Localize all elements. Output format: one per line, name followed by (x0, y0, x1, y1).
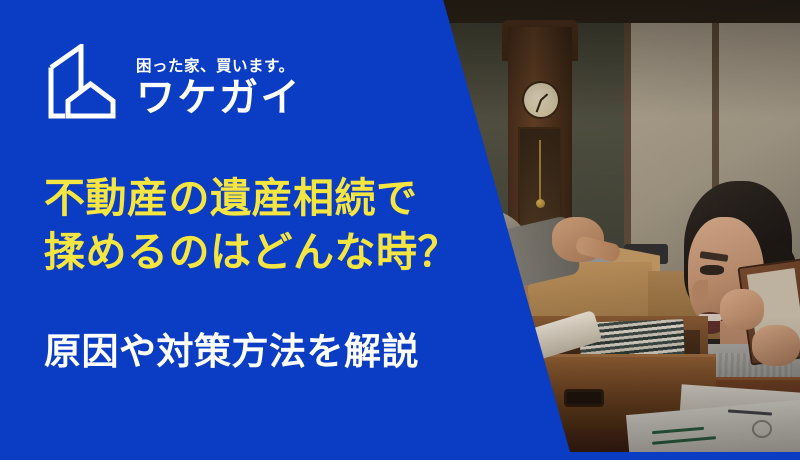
headline-line-1: 不動産の遺産相続で (44, 171, 459, 225)
man-eyebrow (488, 267, 521, 278)
logo-brand-name: ワケガイ (136, 79, 302, 118)
scroll-red-cord (508, 332, 522, 355)
text-content-column: 困った家、買います。 ワケガイ 不動産の遺産相続で 揉めるのはどんな時？ 原因や… (0, 0, 440, 460)
man-mouth (500, 323, 528, 333)
headline-line-2: 揉めるのはどんな時？ (44, 225, 459, 279)
house-outline-icon (45, 44, 119, 119)
man-eye (492, 280, 516, 289)
subtitle-line-1: 原因や対策方法を解説 (44, 328, 419, 376)
logo-tagline: 困った家、買います。 (136, 54, 302, 76)
logo-wordmark: 困った家、買います。 ワケガイ (136, 54, 302, 119)
photo-scene (400, 0, 800, 452)
man-collar (450, 353, 510, 397)
scroll-cord-tail (509, 352, 521, 384)
man-neck (452, 330, 508, 375)
headline: 不動産の遺産相続で 揉めるのはどんな時？ (44, 171, 459, 279)
subtitle: 原因や対策方法を解説 (44, 328, 419, 376)
hero-photo (400, 0, 800, 452)
brand-logo[interactable]: 困った家、買います。 ワケガイ (45, 44, 302, 119)
article-thumbnail-banner: 困った家、買います。 ワケガイ 不動産の遺産相続で 揉めるのはどんな時？ 原因や… (0, 0, 800, 460)
photo-vignette (400, 0, 800, 452)
bottom-accent-bar (0, 452, 800, 460)
